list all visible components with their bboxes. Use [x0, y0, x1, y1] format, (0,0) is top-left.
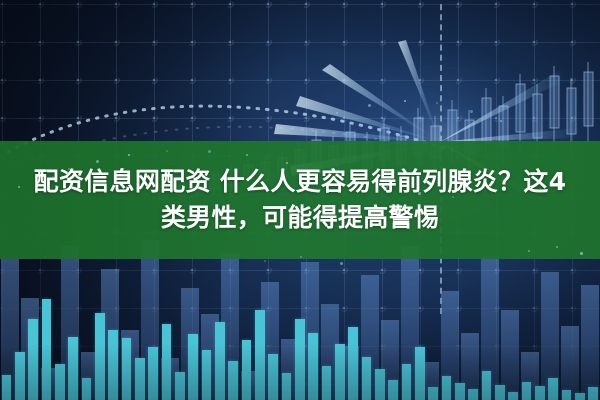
foreground-bar — [335, 344, 345, 400]
foreground-bar — [522, 382, 532, 400]
foreground-bar — [15, 352, 25, 400]
foreground-bar — [575, 393, 585, 400]
foreground-bar — [508, 392, 518, 400]
foreground-bar — [282, 373, 292, 400]
foreground-bar — [535, 386, 545, 400]
foreground-bar — [55, 364, 65, 400]
foreground-bar — [455, 383, 465, 400]
foreground-bar — [188, 334, 198, 400]
foreground-bar — [122, 338, 132, 400]
foreground-bar — [428, 387, 438, 400]
foreground-bar — [68, 337, 78, 400]
foreground-bar — [482, 371, 492, 400]
title-line-1: 配资信息网配资 什么人更容易得前列腺炎？这4 — [34, 164, 567, 201]
title-line-2: 类男性，可能得提高警惕 — [161, 200, 439, 237]
foreground-bar — [415, 347, 425, 400]
foreground-bar — [562, 390, 572, 400]
foreground-bar — [135, 358, 145, 400]
foreground-bar — [495, 385, 505, 400]
foreground-bar — [268, 354, 278, 400]
foreground-bar — [375, 369, 385, 400]
foreground-bar — [148, 347, 158, 400]
foreground-bar — [2, 375, 12, 400]
foreground-bar — [82, 378, 92, 400]
foreground-bar — [308, 333, 318, 400]
foreground-bar — [95, 313, 105, 400]
foreground-bar — [548, 378, 558, 400]
foreground-bar — [468, 389, 478, 400]
foreground-bar — [348, 327, 358, 400]
foreground-bar — [28, 319, 38, 400]
foreground-bar — [228, 361, 238, 400]
green-title-banner: 配资信息网配资 什么人更容易得前列腺炎？这4 类男性，可能得提高警惕 — [0, 141, 600, 259]
foreground-bar — [322, 366, 332, 400]
foreground-bar — [202, 350, 212, 400]
foreground-bar — [388, 380, 398, 400]
foreground-bar-chart — [0, 250, 600, 400]
foreground-bar — [175, 372, 185, 400]
foreground-bar — [402, 364, 412, 400]
foreground-bar — [362, 357, 372, 400]
foreground-bar — [162, 324, 172, 400]
foreground-bar — [588, 387, 598, 400]
foreground-bar — [108, 330, 118, 400]
foreground-bar — [295, 319, 305, 400]
foreground-bar — [42, 299, 52, 400]
foreground-bar — [255, 310, 265, 400]
foreground-bar — [442, 376, 452, 400]
foreground-bar — [215, 322, 225, 400]
foreground-bar — [242, 340, 252, 400]
thumbnail-canvas: 配资信息网配资 什么人更容易得前列腺炎？这4 类男性，可能得提高警惕 — [0, 0, 600, 400]
